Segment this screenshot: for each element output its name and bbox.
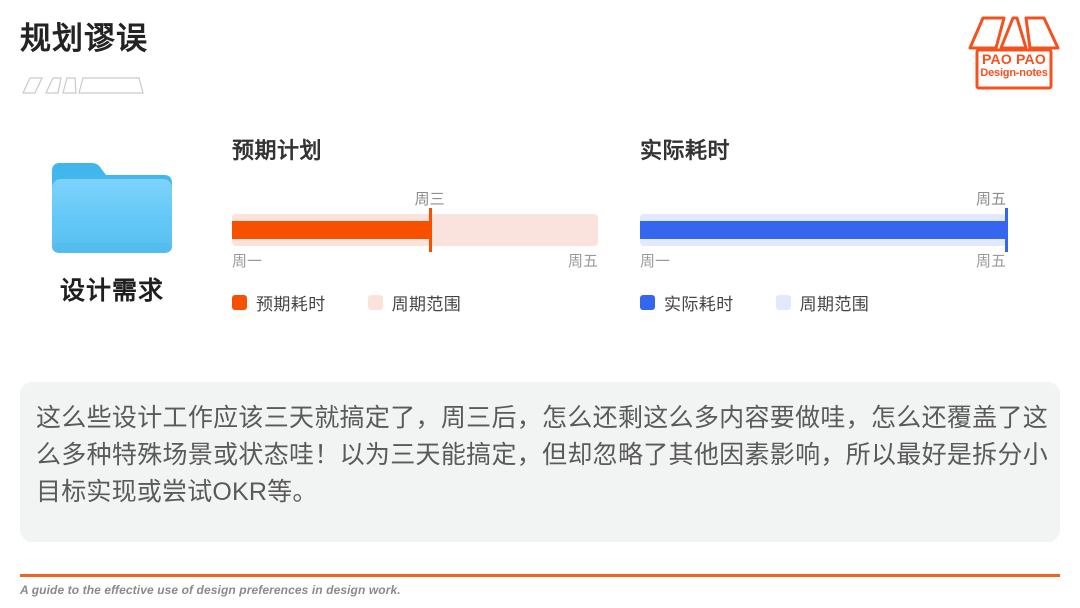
slide-canvas: 规划谬误 PAO PAO Design-notes <box>0 0 1080 608</box>
axis-end-label-expected: 周五 <box>568 252 598 272</box>
legend-item-actual-duration: 实际耗时 <box>640 290 734 315</box>
marker-label-actual: 周五 <box>976 190 1006 210</box>
paopao-roof-logo-icon: PAO PAO Design-notes <box>966 14 1062 92</box>
panel-actual-time: 实际耗时 周五 周一 周五 实际耗时 周期范围 <box>640 140 1006 315</box>
footer-note: A guide to the effective use of design p… <box>20 583 401 597</box>
marker-tick-expected <box>429 208 432 252</box>
legend-item-actual-range: 周期范围 <box>776 290 870 315</box>
axis-row-actual: 周一 周五 <box>640 252 1006 274</box>
legend-label: 周期范围 <box>800 290 870 315</box>
marker-row-actual: 周五 <box>640 190 1006 212</box>
legend-swatch-icon <box>368 295 383 310</box>
commentary-panel: 这么些设计工作应该三天就搞定了，周三后，怎么还剩这么多内容要做哇，怎么还覆盖了这… <box>20 382 1060 542</box>
marker-row-expected: 周三 <box>232 190 598 212</box>
legend-label: 实际耗时 <box>664 290 734 315</box>
range-track-expected <box>232 214 598 246</box>
axis-start-label-expected: 周一 <box>232 252 262 272</box>
panel-expected-plan: 预期计划 周三 周一 周五 预期耗时 周期范围 <box>232 140 598 315</box>
page-title: 规划谬误 <box>20 22 148 56</box>
axis-start-label-actual: 周一 <box>640 252 670 272</box>
legend-item-expected-range: 周期范围 <box>368 290 462 315</box>
panel-title-actual: 实际耗时 <box>640 140 1006 162</box>
legend-swatch-icon <box>776 295 791 310</box>
commentary-text: 这么些设计工作应该三天就搞定了，周三后，怎么还剩这么多内容要做哇，怎么还覆盖了这… <box>36 400 1048 511</box>
legend-label: 周期范围 <box>392 290 462 315</box>
design-requirement-label: 设计需求 <box>22 271 202 307</box>
legend-label: 预期耗时 <box>256 290 326 315</box>
legend-swatch-icon <box>640 295 655 310</box>
axis-end-label-actual: 周五 <box>976 252 1006 272</box>
parallelogram-stripes-outline-icon <box>17 73 145 97</box>
marker-tick-actual <box>1005 208 1008 252</box>
bar-fill-actual <box>640 221 1006 239</box>
legend-item-expected-duration: 预期耗时 <box>232 290 326 315</box>
blue-folder-icon <box>48 155 176 257</box>
marker-label-expected: 周三 <box>415 190 445 210</box>
legend-actual: 实际耗时 周期范围 <box>640 290 1006 315</box>
bar-fill-expected <box>232 221 430 239</box>
axis-row-expected: 周一 周五 <box>232 252 598 274</box>
design-requirement-block: 设计需求 <box>22 155 202 307</box>
footer-divider <box>20 574 1060 577</box>
range-track-actual <box>640 214 1006 246</box>
legend-expected: 预期耗时 周期范围 <box>232 290 598 315</box>
panel-title-expected: 预期计划 <box>232 140 598 162</box>
legend-swatch-icon <box>232 295 247 310</box>
